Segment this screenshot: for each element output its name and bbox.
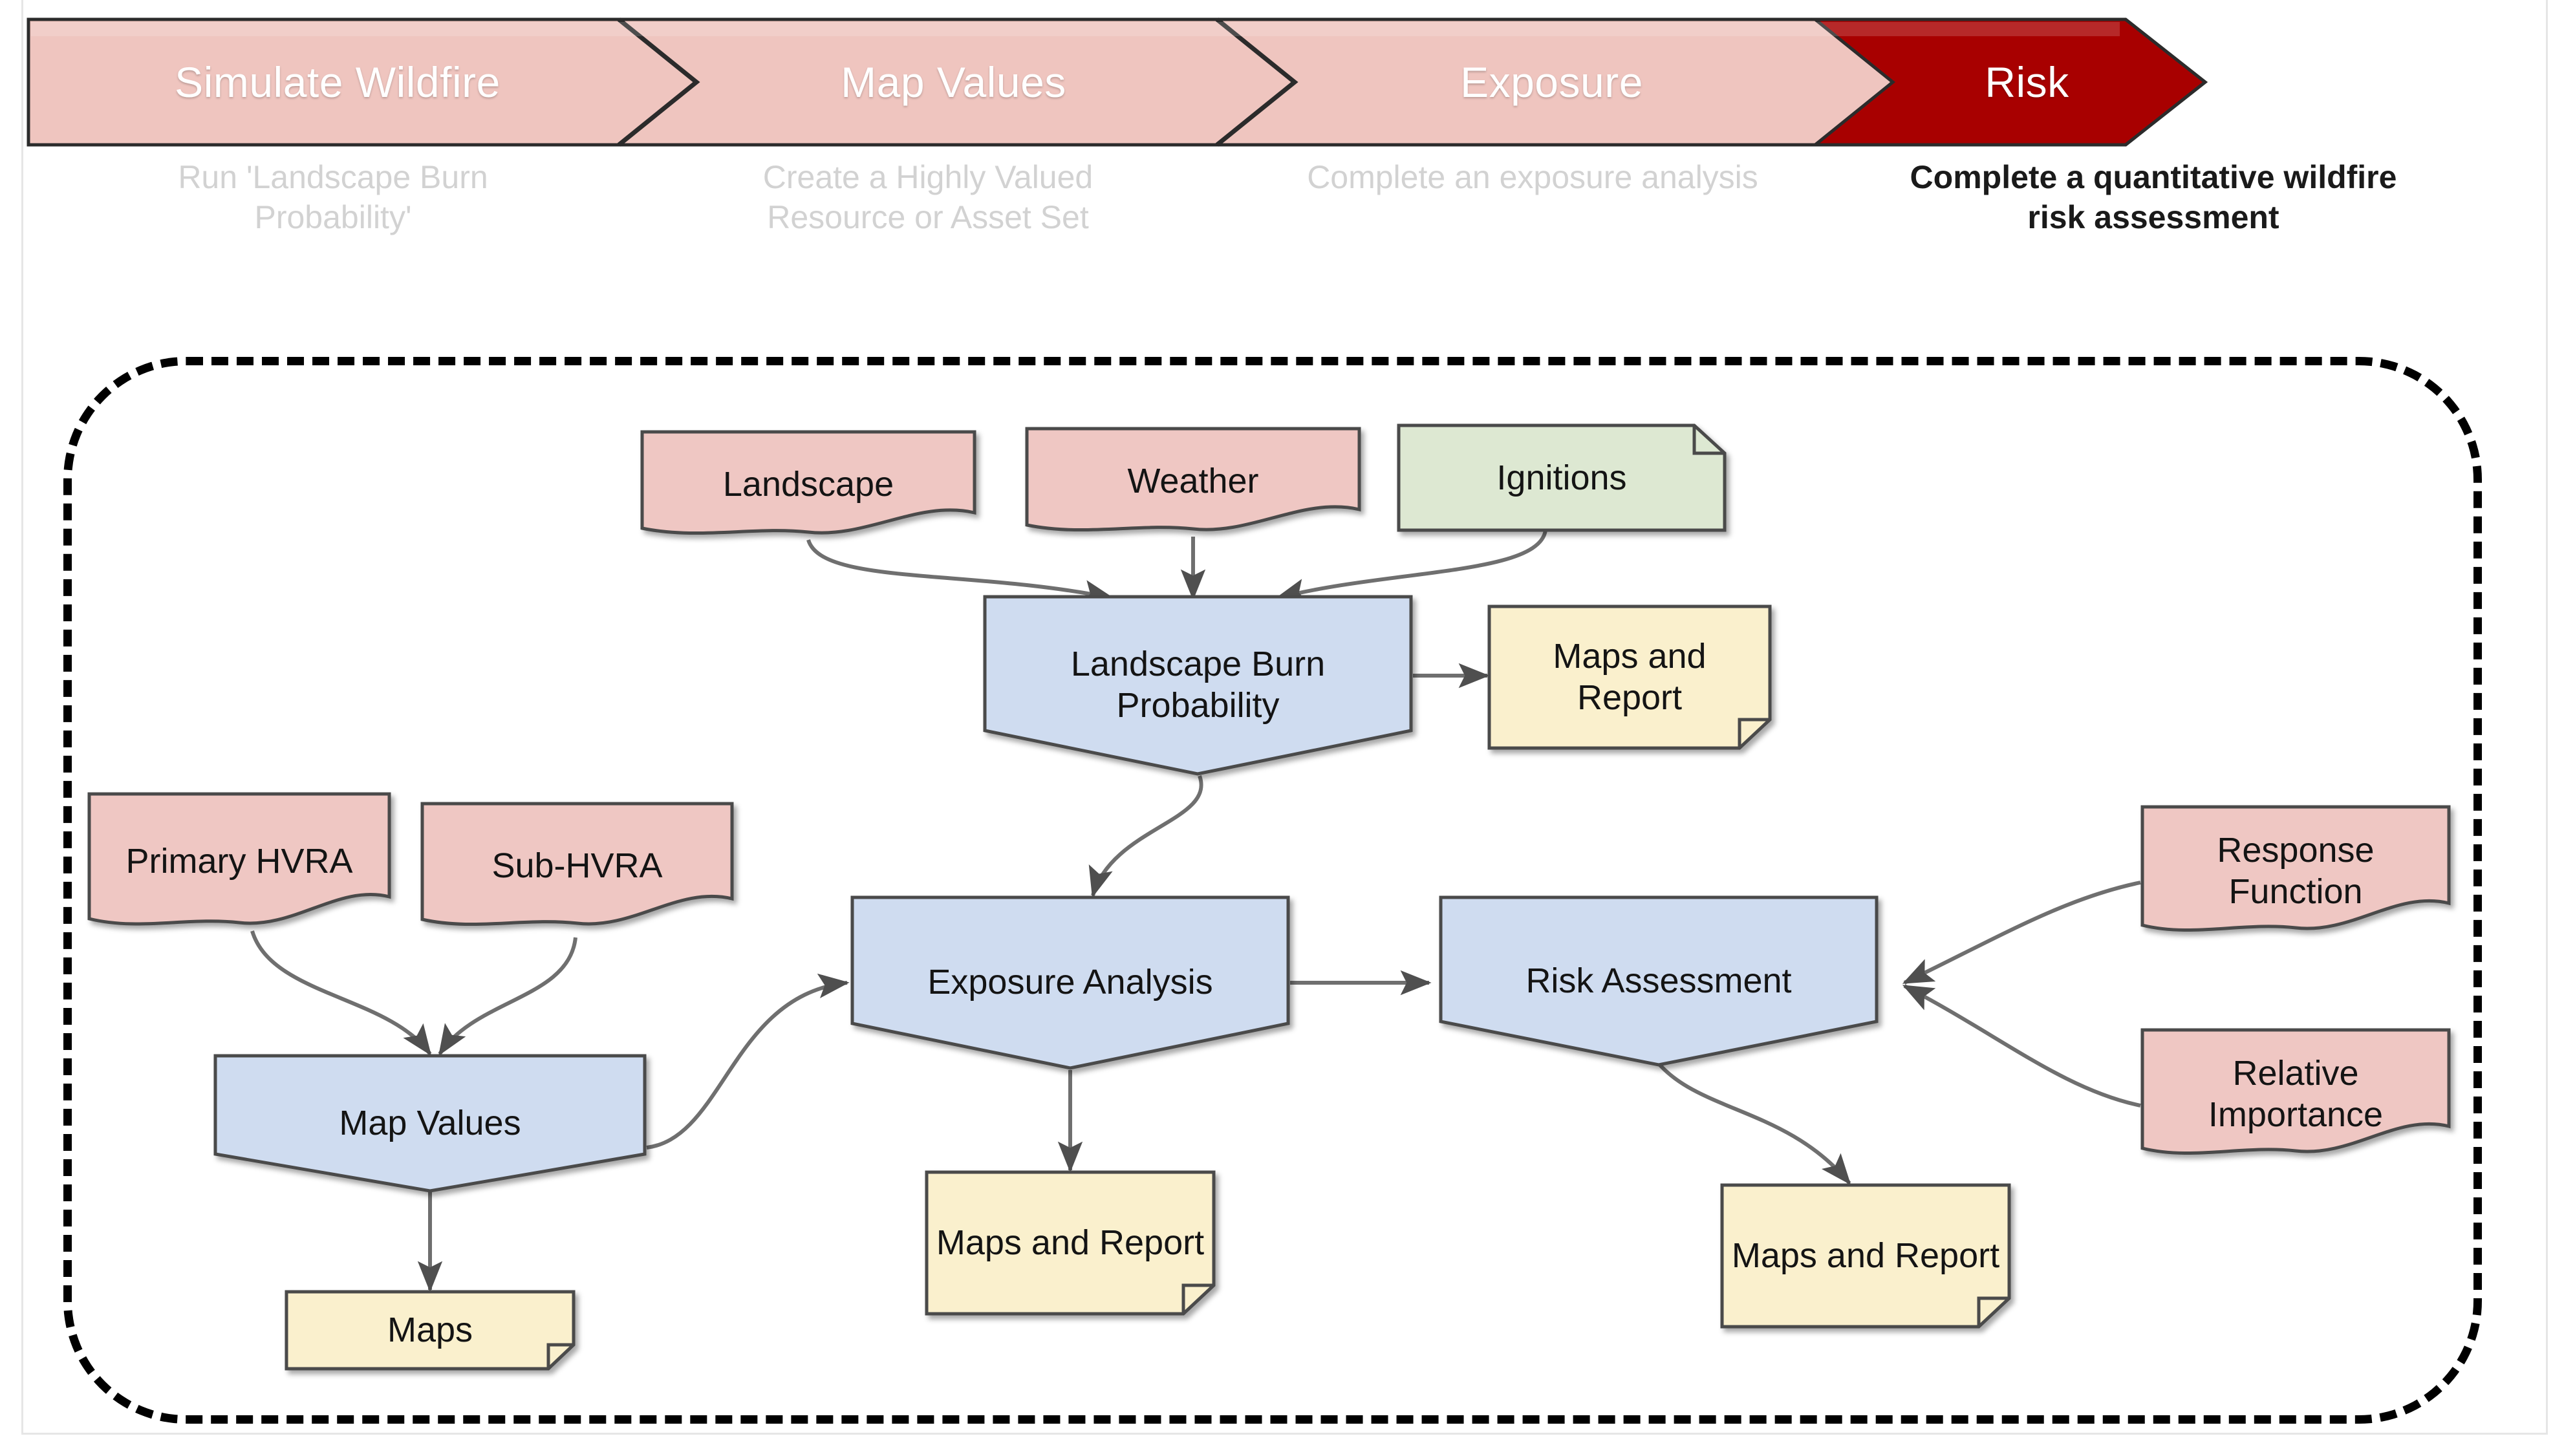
node-label: Risk Assessment xyxy=(1516,961,1800,1002)
edge-map-values-to-exposure xyxy=(647,983,847,1148)
node-label: Primary HVRA xyxy=(116,841,361,883)
edge-lbp-to-exposure xyxy=(1093,776,1201,895)
edge-response-function-to-risk xyxy=(1904,883,2140,983)
node-label: Response Function xyxy=(2140,830,2451,912)
edge-primary-hvra-to-map-values xyxy=(252,931,430,1054)
node-label: Sub-HVRA xyxy=(482,846,671,887)
node-label: Landscape Burn Probability xyxy=(983,644,1413,726)
node-maps-and-report-lbp[interactable]: Maps and Report xyxy=(1487,605,1772,750)
node-label: Landscape xyxy=(714,464,903,506)
node-ignitions[interactable]: Ignitions xyxy=(1397,423,1727,533)
node-response-function[interactable]: Response Function xyxy=(2140,805,2451,937)
workflow-diagram: Landscape Weather Ignitions Landscape Bu… xyxy=(0,0,2575,1456)
node-label: Maps and Report xyxy=(1723,1236,2009,1277)
node-label: Weather xyxy=(1118,461,1267,502)
node-maps[interactable]: Maps xyxy=(285,1290,576,1371)
node-weather[interactable]: Weather xyxy=(1025,427,1361,537)
node-relative-importance[interactable]: Relative Importance xyxy=(2140,1028,2451,1161)
node-label: Maps and Report xyxy=(927,1223,1213,1264)
edge-relative-importance-to-risk xyxy=(1904,986,2140,1106)
node-exposure-analysis[interactable]: Exposure Analysis xyxy=(850,895,1290,1070)
node-risk-assessment[interactable]: Risk Assessment xyxy=(1439,895,1879,1067)
node-label: Map Values xyxy=(330,1103,530,1144)
node-label: Exposure Analysis xyxy=(918,962,1222,1003)
node-label: Maps xyxy=(378,1310,482,1351)
node-map-values[interactable]: Map Values xyxy=(213,1054,647,1193)
node-maps-and-report-exposure[interactable]: Maps and Report xyxy=(925,1170,1216,1316)
node-primary-hvra[interactable]: Primary HVRA xyxy=(87,792,391,931)
wildfire-risk-workflow-page: Simulate Wildfire Map Values Exposure Ri… xyxy=(0,0,2575,1456)
node-landscape[interactable]: Landscape xyxy=(640,430,976,540)
node-sub-hvra[interactable]: Sub-HVRA xyxy=(420,802,734,931)
node-label: Ignitions xyxy=(1487,458,1635,499)
edge-risk-to-maps-report xyxy=(1659,1064,1849,1183)
node-label: Maps and Report xyxy=(1487,636,1772,718)
node-label: Relative Importance xyxy=(2140,1053,2451,1135)
node-landscape-burn-probability[interactable]: Landscape Burn Probability xyxy=(983,595,1413,776)
edge-sub-hvra-to-map-values xyxy=(440,937,576,1054)
edge-ignitions-to-lbp xyxy=(1277,530,1546,598)
node-maps-and-report-risk[interactable]: Maps and Report xyxy=(1720,1183,2011,1329)
edge-landscape-to-lbp xyxy=(808,540,1112,598)
